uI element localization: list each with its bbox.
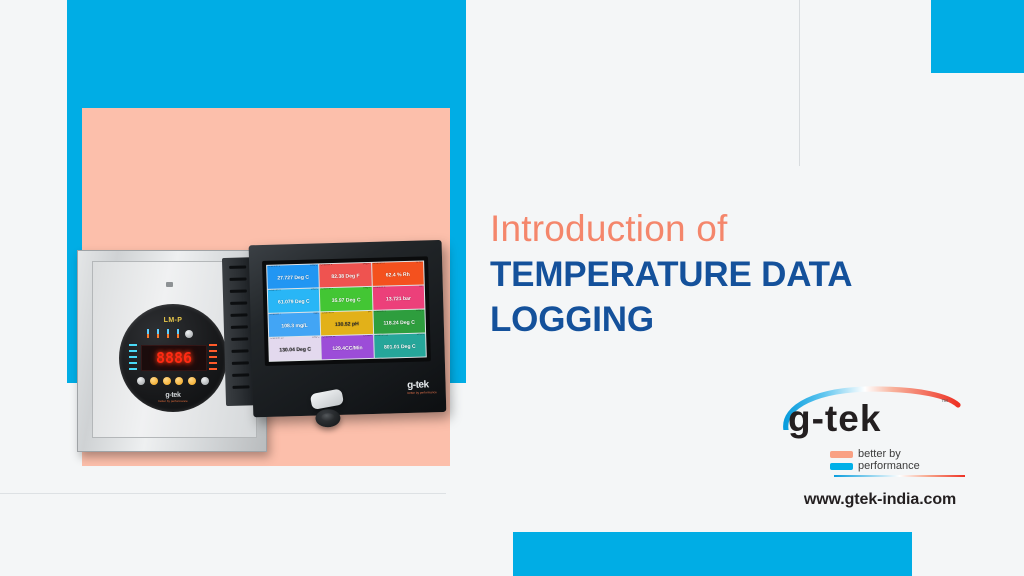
- channel-tile-label: Channel 5: [321, 288, 333, 291]
- channel-tile-label: Channel 6: [373, 287, 385, 290]
- vent-slot-icon: [232, 349, 249, 352]
- led-segment-icon: [209, 356, 217, 358]
- headline-intro: Introduction of: [490, 208, 960, 249]
- panel-meter-aux-left-button[interactable]: [137, 377, 145, 385]
- panel-meter-model-label: LM-P: [119, 317, 227, 324]
- channel-tile[interactable]: Channel 6bar13.721 bar: [372, 285, 424, 309]
- panel-meter-right-led-bar: [209, 344, 217, 370]
- panel-meter-top-indicators: [147, 329, 179, 338]
- led-segment-icon: [129, 350, 137, 352]
- led-segment-icon: [209, 344, 217, 346]
- blue-accent-square-top-right: [931, 0, 1024, 73]
- channel-tile-unit: Deg C: [416, 309, 423, 312]
- led-segment-icon: [129, 362, 137, 364]
- led-segment-icon: [129, 344, 137, 346]
- channel-tile-value: 801.01 Deg C: [384, 343, 416, 350]
- recorder-front-panel: Channel 1Deg C27.727 Deg CChannel 2Deg F…: [249, 240, 447, 417]
- channel-tile-value: 61.079 Deg C: [278, 298, 310, 305]
- channel-tile[interactable]: Channel 2Deg F82.38 Deg F: [319, 263, 371, 287]
- vent-slot-icon: [231, 325, 248, 328]
- channel-tile-label: Channel 7: [270, 313, 282, 316]
- channel-tile-unit: Deg F: [363, 263, 370, 266]
- panel-meter-brand-text: g-tek: [165, 392, 180, 399]
- enclosure-screw-icon: [166, 282, 173, 287]
- panel-meter-left-led-bar: [129, 344, 137, 370]
- indicator-led-icon: [157, 329, 159, 338]
- recorder-screen-bezel: Channel 1Deg C27.727 Deg CChannel 2Deg F…: [262, 256, 431, 366]
- tagline-row-performance: performance: [830, 460, 965, 472]
- channel-tile-label: Channel 4: [269, 289, 281, 292]
- channel-tile-value: 62.4 % Rh: [386, 271, 410, 278]
- paperless-recorder: Channel 1Deg C27.727 Deg CChannel 2Deg F…: [222, 240, 447, 421]
- vent-slot-icon: [232, 361, 249, 364]
- channel-tile-unit: Deg C: [311, 288, 318, 291]
- website-url[interactable]: www.gtek-india.com: [780, 491, 980, 509]
- headline-main-line-2: LOGGING: [490, 298, 960, 342]
- channel-tile[interactable]: Channel 4Deg C61.079 Deg C: [268, 288, 320, 312]
- panel-meter-dial: LM-P 8886: [119, 304, 227, 412]
- panel-meter-aux-right-button[interactable]: [201, 377, 209, 385]
- channel-tile-value: 13.721 bar: [386, 295, 411, 302]
- led-segment-icon: [209, 362, 217, 364]
- vent-slot-icon: [229, 277, 246, 280]
- trademark-symbol: ™: [941, 399, 948, 406]
- headline-main-line-1: TEMPERATURE DATA: [490, 253, 960, 297]
- channel-tile-unit: Deg C: [310, 264, 317, 267]
- recorder-brand-label: g-tek better by performance: [407, 379, 437, 395]
- vent-slot-icon: [230, 289, 247, 292]
- channel-tile-unit: % Rh: [416, 262, 422, 265]
- slide-canvas: LM-P 8886: [0, 0, 1024, 576]
- channel-tile-label: Channel 3: [373, 263, 385, 266]
- channel-tile-label: Channel 10: [270, 337, 283, 340]
- indicator-led-icon: [147, 329, 149, 338]
- channel-tile[interactable]: Channel 1Deg C27.727 Deg C: [267, 264, 319, 288]
- channel-tile-value: 27.727 Deg C: [277, 274, 309, 281]
- channel-tile-value: 82.38 Deg F: [331, 273, 359, 280]
- panel-meter-seven-segment-display: 8886: [141, 345, 207, 371]
- channel-tile-unit: CC/Min: [363, 335, 372, 338]
- panel-meter-key-2[interactable]: [163, 377, 171, 385]
- led-segment-icon: [129, 356, 137, 358]
- panel-meter-reset-button[interactable]: [185, 330, 193, 338]
- channel-tile[interactable]: Channel 5Deg C35.97 Deg C: [320, 287, 372, 311]
- channel-tile[interactable]: Channel 7mg/L108.3 mg/L: [269, 312, 321, 336]
- panel-meter-key-4[interactable]: [188, 377, 196, 385]
- blue-swatch-icon: [830, 463, 853, 470]
- channel-tile-label: Channel 8: [322, 312, 334, 315]
- recorder-brand-tagline: better by performance: [407, 390, 436, 395]
- channel-tile-unit: bar: [419, 286, 423, 289]
- channel-tile-unit: Deg C: [312, 336, 319, 339]
- channel-tile-unit: Deg C: [363, 287, 370, 290]
- indicator-led-icon: [167, 329, 169, 338]
- tagline-row-better: better by: [830, 448, 965, 460]
- panel-meter-brand-label: g-tek better by performance: [119, 392, 227, 403]
- headline-main: TEMPERATURE DATA LOGGING: [490, 253, 960, 341]
- gtek-logo: g-tek ™: [780, 386, 980, 448]
- channel-tile[interactable]: Channel 3% Rh62.4 % Rh: [372, 261, 424, 285]
- vent-slot-icon: [233, 385, 250, 388]
- channel-tile-label: Channel 9: [374, 311, 386, 314]
- channel-tile-label: Channel 2: [320, 264, 332, 267]
- channel-tile[interactable]: Channel 8pH130.52 pH: [321, 311, 373, 335]
- channel-tile[interactable]: Channel 10Deg C130.04 Deg C: [269, 336, 321, 360]
- recorder-cable-gland: [315, 409, 340, 428]
- recorder-usb-port-cover[interactable]: [310, 388, 344, 410]
- panel-meter-key-1[interactable]: [150, 377, 158, 385]
- vertical-divider-line: [799, 0, 800, 166]
- tagline-text-1: better by: [858, 449, 901, 460]
- channel-tile-label: Channel 11: [322, 336, 335, 339]
- channel-tile[interactable]: Channel 9Deg C118.24 Deg C: [373, 309, 425, 333]
- channel-tile-value: 130.52 pH: [335, 321, 359, 328]
- gtek-wordmark: g-tek: [788, 400, 881, 437]
- channel-tile-label: Channel 12: [375, 334, 388, 337]
- vent-slot-icon: [231, 337, 248, 340]
- led-segment-icon: [209, 350, 217, 352]
- channel-tile-value: 118.24 Deg C: [383, 319, 415, 326]
- vent-slot-icon: [232, 373, 249, 376]
- indicator-led-icon: [177, 329, 179, 338]
- recorder-touchscreen[interactable]: Channel 1Deg C27.727 Deg CChannel 2Deg F…: [266, 260, 427, 361]
- channel-tile-unit: Deg C: [417, 333, 424, 336]
- blue-accent-bar-bottom: [513, 532, 912, 576]
- led-segment-icon: [129, 368, 137, 370]
- vent-slot-icon: [230, 301, 247, 304]
- channel-tile-unit: mg/L: [313, 312, 319, 315]
- product-photo: LM-P 8886: [72, 243, 472, 468]
- tagline-text-2: performance: [858, 461, 920, 472]
- peach-swatch-icon: [830, 451, 853, 458]
- channel-tile[interactable]: Channel 12Deg C801.01 Deg C: [374, 333, 426, 357]
- led-segment-icon: [209, 368, 217, 370]
- vent-slot-icon: [230, 313, 247, 316]
- panel-meter-key-3[interactable]: [175, 377, 183, 385]
- horizontal-divider-line: [0, 493, 446, 494]
- channel-tile-value: 129.4CC/Min: [332, 345, 362, 352]
- brand-tagline: better by performance: [830, 448, 965, 477]
- channel-tile-value: 35.97 Deg C: [332, 297, 361, 304]
- panel-meter-brand-tagline: better by performance: [119, 399, 227, 403]
- recorder-brand-text: g-tek: [407, 379, 429, 391]
- channel-tile[interactable]: Channel 11CC/Min129.4CC/Min: [321, 335, 373, 359]
- channel-tile-value: 130.04 Deg C: [279, 346, 311, 353]
- vent-slot-icon: [229, 265, 246, 268]
- tagline-gradient-rule: [834, 475, 965, 477]
- channel-tile-value: 108.3 mg/L: [281, 322, 308, 329]
- panel-meter-display-value: 8886: [156, 351, 192, 366]
- channel-tile-unit: pH: [368, 311, 371, 314]
- channel-tile-label: Channel 1: [268, 265, 280, 268]
- headline-block: Introduction of TEMPERATURE DATA LOGGING: [490, 208, 960, 342]
- brand-logo-block: g-tek ™ better by performance www.gtek-i…: [780, 386, 980, 509]
- panel-meter-button-row: [137, 376, 209, 386]
